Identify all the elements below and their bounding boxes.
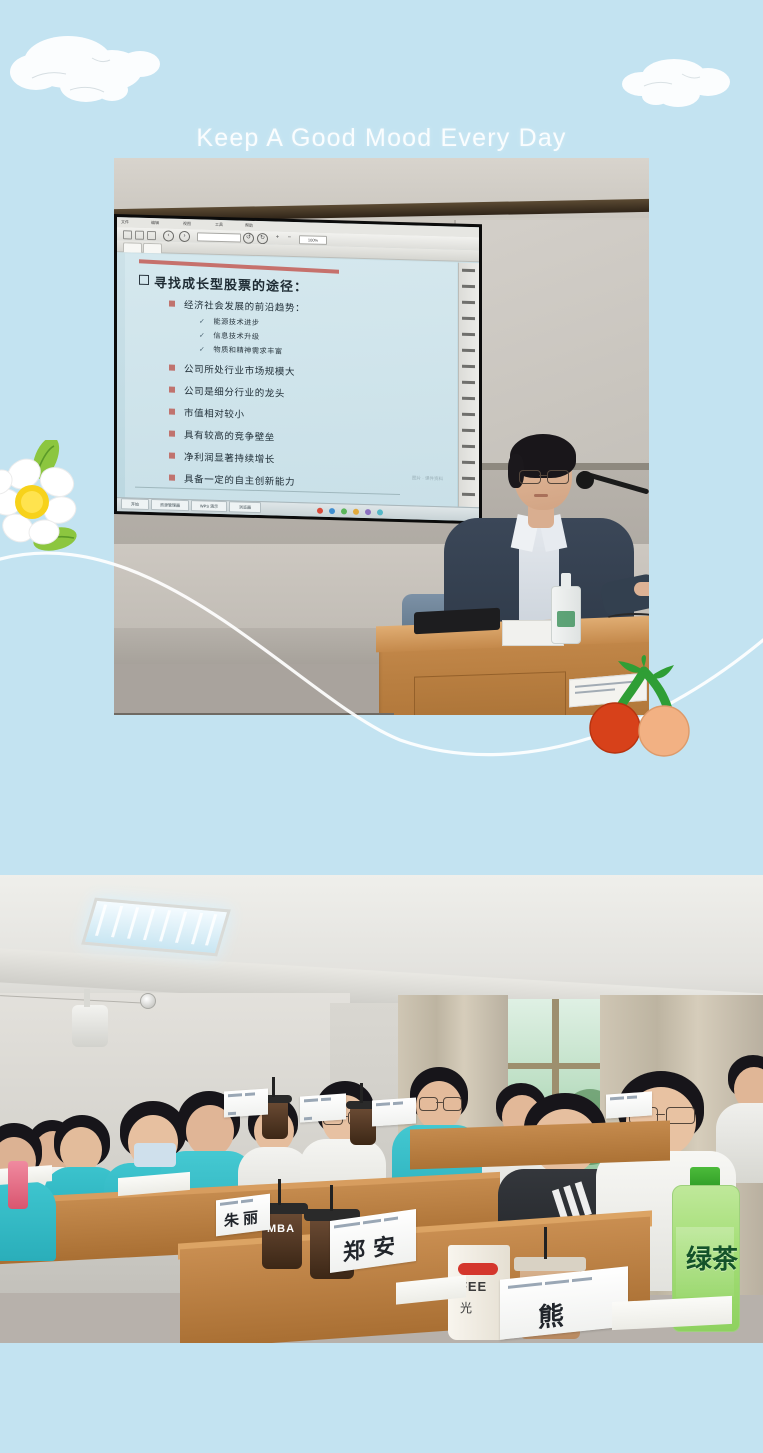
straw — [278, 1179, 281, 1205]
cherries-icon — [588, 655, 698, 760]
glasses-icon — [518, 470, 570, 482]
security-camera-icon — [140, 993, 156, 1009]
slide-canvas: 寻找成长型股票的途径： 经济社会发展的前沿趋势： ✓能源技术进步 ✓信息技术升级… — [125, 253, 457, 506]
slide-bullet-0-text: 经济社会发展的前沿趋势： — [184, 300, 305, 314]
slide-bullet-8: 净利润显著持续增长 — [169, 449, 275, 466]
lectern-front-panel — [414, 671, 566, 715]
slide-bullet-7-text: 具有较高的竞争壁垒 — [184, 430, 275, 444]
face-mask — [134, 1143, 176, 1167]
desk-equipment — [414, 608, 500, 635]
toolbar-icon-3[interactable] — [147, 231, 156, 240]
poster-page: Keep A Good Mood Every Day 文件 编辑 视图 工具 帮… — [0, 0, 763, 1453]
nameplate-back-3 — [372, 1097, 416, 1126]
slide-bullet-5: 公司是细分行业的龙头 — [169, 383, 285, 400]
daisy-flower-icon — [0, 440, 114, 565]
pink-bottle — [8, 1161, 28, 1209]
bullet-square-icon — [169, 431, 175, 437]
menu-item-help[interactable]: 帮助 — [245, 223, 253, 229]
slide-bullet-2-text: 信息技术升级 — [213, 331, 259, 341]
menu-item-tools[interactable]: 工具 — [215, 222, 223, 228]
slide-bullet-4-text: 公司所处行业市场规模大 — [184, 364, 295, 378]
whiteboard — [454, 220, 649, 465]
cloud-icon-left — [8, 28, 178, 106]
nameplate-back-4 — [606, 1091, 652, 1118]
drink-label-mba: MBA — [267, 1223, 295, 1235]
nameplate-name: 郑安 — [330, 1225, 416, 1269]
slide-baseline — [135, 487, 400, 495]
projection-screen-image: 文件 编辑 视图 工具 帮助 ‹ › ↺ ↻ + − — [117, 217, 479, 521]
straw — [272, 1077, 275, 1097]
rotate-right-icon[interactable]: ↻ — [257, 233, 268, 244]
check-icon: ✓ — [199, 345, 205, 353]
straw — [544, 1227, 547, 1259]
bullet-square-icon — [169, 387, 175, 393]
nameplate-name: 朱丽 — [216, 1205, 270, 1233]
page-indicator[interactable] — [197, 232, 241, 242]
hand-sanitizer-bottle — [551, 586, 581, 644]
taskbar-start[interactable]: 开始 — [121, 498, 149, 510]
tray-icon-4[interactable] — [353, 509, 359, 515]
check-icon: ✓ — [199, 331, 205, 339]
nameplate-name — [372, 1106, 416, 1122]
tray-icon-5[interactable] — [365, 509, 371, 515]
slide-bullet-3-text: 物质和精神需求丰富 — [213, 345, 282, 356]
slide-bullet-2: ✓信息技术升级 — [199, 330, 260, 342]
slide-bullet-7: 具有较高的竞争壁垒 — [169, 427, 275, 444]
toolbar-icon-2[interactable] — [135, 231, 144, 240]
slide-bullet-3: ✓物质和精神需求丰富 — [199, 344, 283, 356]
coffee-cup-text-2: 光 — [460, 1299, 472, 1316]
bullet-square-icon — [169, 301, 175, 307]
nameplate-xiong: 熊 — [500, 1266, 628, 1339]
glasses-icon — [418, 1097, 462, 1108]
bullet-square-icon — [169, 409, 175, 415]
slide-bullet-8-text: 净利润显著持续增长 — [184, 452, 275, 466]
slide-bullet-1: ✓能源技术进步 — [199, 316, 260, 328]
page-title: Keep A Good Mood Every Day — [0, 124, 763, 153]
slide-watermark: 图片 · 课件资料 — [412, 475, 443, 482]
nameplate-name — [224, 1097, 268, 1113]
slide-bullet-0: 经济社会发展的前沿趋势： — [169, 297, 305, 315]
slide-bullet-1-text: 能源技术进步 — [213, 317, 259, 327]
slide-ruler — [458, 263, 479, 508]
zoom-level[interactable]: 100% — [299, 235, 327, 245]
microphone-icon — [576, 471, 594, 489]
slide-title-text: 寻找成长型股票的途径： — [154, 276, 308, 295]
taskbar-explorer[interactable]: 资源管理器 — [151, 499, 189, 511]
slide-title: 寻找成长型股票的途径： — [139, 272, 308, 296]
cup-lid — [514, 1257, 586, 1271]
projection-screen: 文件 编辑 视图 工具 帮助 ‹ › ↺ ↻ + − — [114, 214, 482, 524]
menu-item-file[interactable]: 文件 — [121, 219, 129, 225]
bullet-square-icon — [169, 475, 175, 481]
nameplate-back-1 — [224, 1088, 268, 1117]
nameplate-name — [606, 1099, 652, 1113]
bullet-square-icon — [169, 453, 175, 459]
bullet-square-icon — [169, 365, 175, 371]
forward-arrow-icon[interactable]: › — [179, 231, 190, 242]
bottle-label-text: 绿茶 — [686, 1247, 738, 1273]
wall-speaker — [72, 1005, 108, 1047]
slide-bullet-6: 市值相对较小 — [169, 405, 245, 421]
straw — [330, 1185, 333, 1211]
nameplate-name — [300, 1102, 346, 1118]
slide-bullet-6-text: 市值相对较小 — [184, 408, 245, 421]
square-bullet-icon — [139, 275, 149, 285]
tab-1[interactable] — [123, 242, 142, 253]
back-arrow-icon[interactable]: ‹ — [163, 230, 174, 241]
photo-classroom: MBA FFEE 光 绿茶 — [0, 875, 763, 1343]
toolbar-icon-1[interactable] — [123, 230, 132, 239]
tray-icon-2[interactable] — [329, 508, 335, 514]
nameplate-back-2 — [300, 1093, 346, 1122]
check-icon: ✓ — [199, 317, 205, 325]
front-bench — [114, 713, 394, 715]
slide-bullet-5-text: 公司是细分行业的龙头 — [184, 386, 285, 400]
lecturer-mouth — [534, 494, 548, 497]
tray-icon-1[interactable] — [317, 508, 323, 514]
cloud-icon-right — [616, 52, 736, 112]
zoom-in-icon[interactable]: + — [273, 233, 282, 242]
rotate-left-icon[interactable]: ↺ — [243, 233, 254, 244]
lecturer-hand — [634, 582, 649, 596]
nameplate-zhu-li: 朱丽 — [216, 1194, 270, 1237]
zoom-out-icon[interactable]: − — [285, 234, 294, 243]
coffee-brand-badge — [458, 1263, 498, 1275]
tab-2[interactable] — [143, 243, 162, 254]
slide-bullet-9-text: 具备一定的自主创新能力 — [184, 474, 295, 488]
menu-item-edit[interactable]: 编辑 — [151, 220, 159, 226]
straw — [360, 1083, 363, 1103]
menu-item-view[interactable]: 视图 — [183, 221, 191, 227]
taskbar-browser[interactable]: 浏览器 — [229, 501, 261, 513]
slide-bullet-4: 公司所处行业市场规模大 — [169, 361, 295, 379]
slide-bullet-9: 具备一定的自主创新能力 — [169, 471, 295, 489]
tray-icon-6[interactable] — [377, 509, 383, 515]
photo-lecture: 文件 编辑 视图 工具 帮助 ‹ › ↺ ↻ + − — [114, 158, 649, 715]
taskbar-wps[interactable]: WPS 演示 — [191, 500, 227, 512]
tray-icon-3[interactable] — [341, 508, 347, 514]
